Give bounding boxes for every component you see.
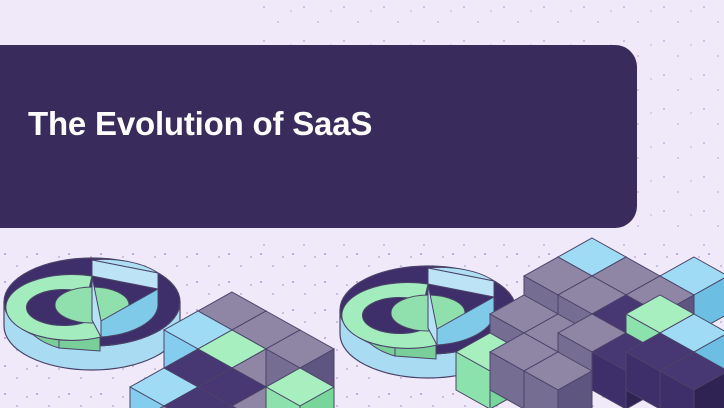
- page-title: The Evolution of SaaS: [28, 105, 372, 143]
- donut-chart-left: [4, 258, 180, 370]
- slide-canvas: The Evolution of SaaS: [0, 0, 724, 408]
- cube-cluster-right: [456, 238, 724, 408]
- title-panel: The Evolution of SaaS: [0, 45, 637, 228]
